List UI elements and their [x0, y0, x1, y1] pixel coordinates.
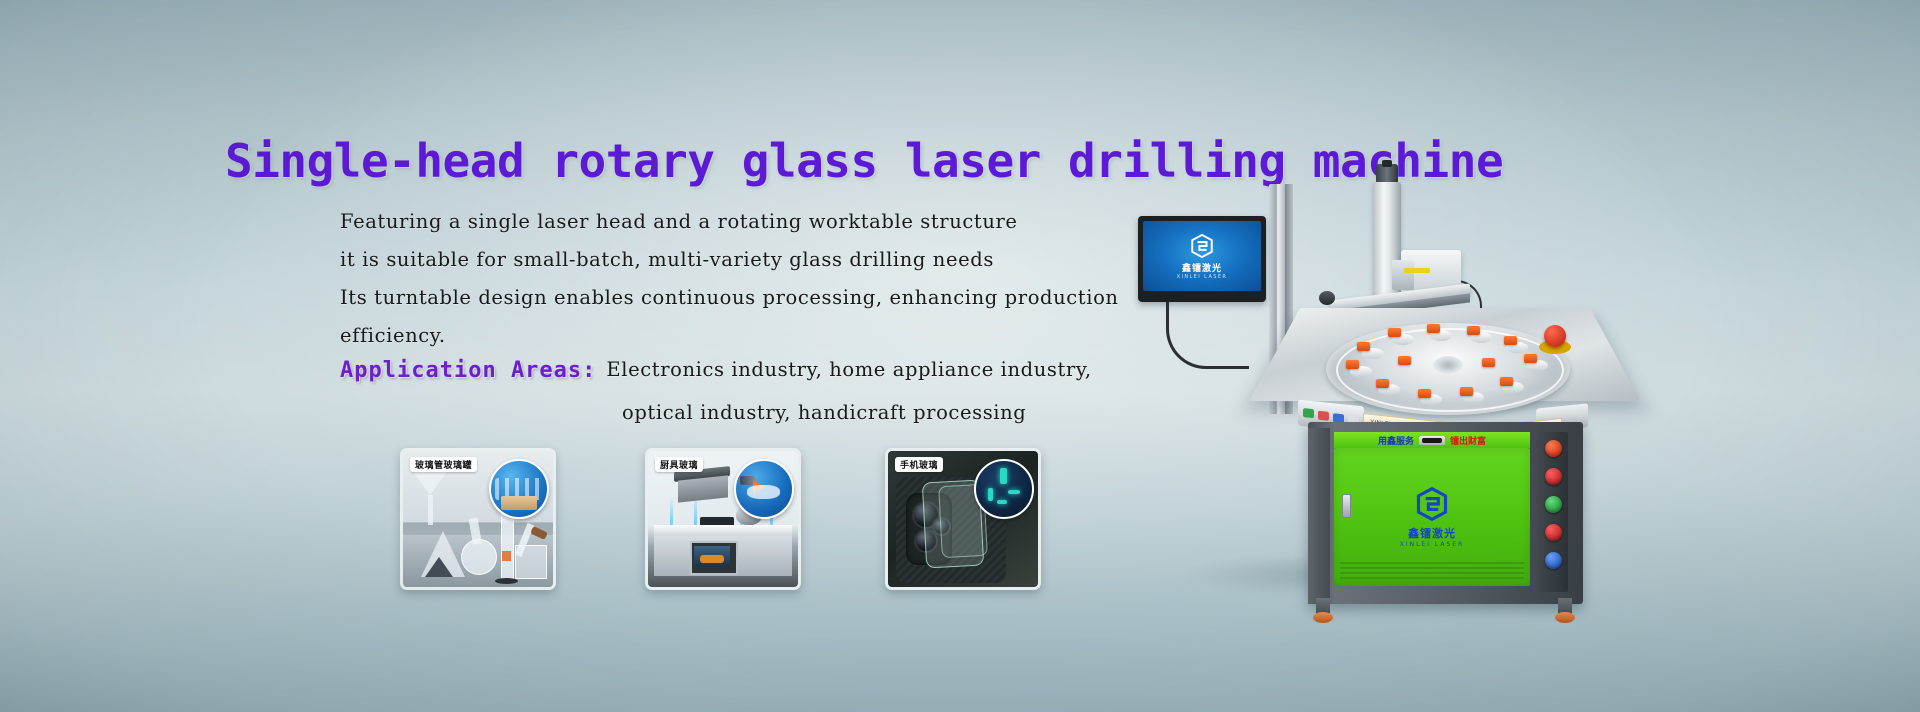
- workpiece-clamp: [1388, 328, 1401, 337]
- description-line: efficiency.: [340, 317, 1120, 355]
- cabinet-slogan-banner: 用鑫服务 镭出财富: [1334, 432, 1530, 448]
- brand-hex-logo-icon: [1414, 486, 1450, 522]
- cabinet-brand-cn: 鑫镭激光: [1408, 525, 1456, 541]
- monitor-cable: [1166, 300, 1249, 369]
- workpiece-clamp: [1504, 336, 1517, 345]
- thumbnail-label: 手机玻璃: [895, 457, 943, 472]
- banner-stage: Single-head rotary glass laser drilling …: [0, 0, 1920, 712]
- gantry-motor: [1376, 164, 1398, 184]
- application-areas-block: Application Areas: Electronics industry,…: [340, 358, 1092, 383]
- cylinder-liquid: [502, 551, 511, 561]
- workpiece-clamp: [1398, 356, 1411, 365]
- emergency-stop-button[interactable]: [1544, 325, 1566, 347]
- background-vignette: [0, 0, 1920, 712]
- funnel-icon: [411, 469, 449, 495]
- rail-end-knob: [1319, 291, 1335, 305]
- workpiece-clamp: [1357, 342, 1370, 351]
- steam-line: [670, 497, 673, 525]
- caster-wheel-right: [1555, 612, 1575, 623]
- cabinet-ventilation-grille: [1340, 562, 1524, 582]
- description-line: Its turntable design enables continuous …: [340, 279, 1120, 317]
- panel-button[interactable]: [1303, 408, 1314, 418]
- description-line: Featuring a single laser head and a rota…: [340, 203, 1120, 241]
- button-power-red[interactable]: [1545, 468, 1562, 485]
- description-block: Featuring a single laser head and a rota…: [340, 203, 1120, 355]
- laser-warning-stripe: [1404, 268, 1430, 273]
- button-emergency-stop[interactable]: [1545, 440, 1562, 457]
- brand-hex-logo-icon: [1189, 233, 1215, 259]
- gantry-cap: [1382, 160, 1392, 167]
- detail-bubble-phone-glass: [974, 459, 1034, 519]
- description-line: it is suitable for small-batch, multi-va…: [340, 241, 1120, 279]
- panel-button[interactable]: [1318, 411, 1329, 421]
- machine-button-column: [1538, 432, 1568, 592]
- laser-head-mount: [1392, 260, 1414, 290]
- oven-food: [700, 555, 724, 563]
- cabinet-slot: [1419, 436, 1445, 445]
- application-areas-label: Application Areas:: [340, 358, 596, 383]
- glass-hole-mark: [1008, 490, 1020, 494]
- application-thumbnail-phone-glass[interactable]: 手机玻璃: [885, 448, 1041, 590]
- round-flask-icon: [461, 539, 497, 575]
- button-start-green[interactable]: [1545, 496, 1562, 513]
- workpiece-clamp: [1427, 324, 1440, 333]
- button-stop-red[interactable]: [1545, 524, 1562, 541]
- thumbnail-label: 玻璃管玻璃罐: [410, 457, 477, 472]
- glass-hole-mark: [1000, 468, 1007, 484]
- turntable-center-hub: [1433, 356, 1463, 374]
- detail-bubble-vials: [489, 459, 549, 519]
- cabinet-brand-en: XINLEI LASER: [1400, 541, 1465, 548]
- flask-liquid: [425, 557, 453, 577]
- workpiece-clamp: [1482, 358, 1495, 367]
- slogan-right-text: 镭出财富: [1450, 434, 1486, 447]
- workpiece-clamp: [1346, 360, 1359, 369]
- thumbnail-label: 厨具玻璃: [655, 457, 703, 472]
- countertop: [654, 525, 792, 536]
- product-machine-image: 鑫镭激光 XINLEI LASER: [1130, 160, 1590, 580]
- button-mode-blue[interactable]: [1545, 552, 1562, 569]
- funnel-stem-icon: [428, 495, 433, 525]
- bubble-pad: [501, 496, 537, 511]
- workpiece-clamp: [1524, 354, 1537, 363]
- caster-wheel-left: [1313, 612, 1333, 623]
- monitor-bezel: 鑫镭激光 XINLEI LASER: [1138, 216, 1266, 302]
- detail-bubble-kitchen-glass: [734, 459, 794, 519]
- application-areas-line: optical industry, handicraft processing: [622, 401, 1026, 424]
- workpiece-clamp: [1500, 377, 1513, 386]
- monitor-screen: 鑫镭激光 XINLEI LASER: [1143, 221, 1261, 291]
- glass-dish-icon: [747, 485, 779, 500]
- monitor-brand-cn: 鑫镭激光: [1182, 261, 1222, 274]
- glass-hole-mark: [997, 500, 1007, 504]
- workpiece-clamp: [1467, 326, 1480, 335]
- workpiece-clamp: [1376, 379, 1389, 388]
- cabinet-left-panel: [1308, 428, 1330, 604]
- monitor-brand-en: XINLEI LASER: [1177, 274, 1228, 280]
- workpiece-clamp: [1460, 387, 1473, 396]
- application-thumbnail-glass-tubes[interactable]: 玻璃管玻璃罐: [400, 448, 556, 590]
- slogan-left-text: 用鑫服务: [1378, 434, 1414, 447]
- cabinet-door-handle[interactable]: [1342, 494, 1351, 518]
- application-areas-line: Electronics industry, home appliance ind…: [606, 358, 1091, 381]
- glass-hole-mark: [988, 488, 993, 501]
- workpiece-clamp: [1418, 389, 1431, 398]
- application-thumbnail-kitchenware[interactable]: 厨具玻璃: [645, 448, 801, 590]
- cabinet-brand-logo: 鑫镭激光 XINLEI LASER: [1334, 486, 1530, 548]
